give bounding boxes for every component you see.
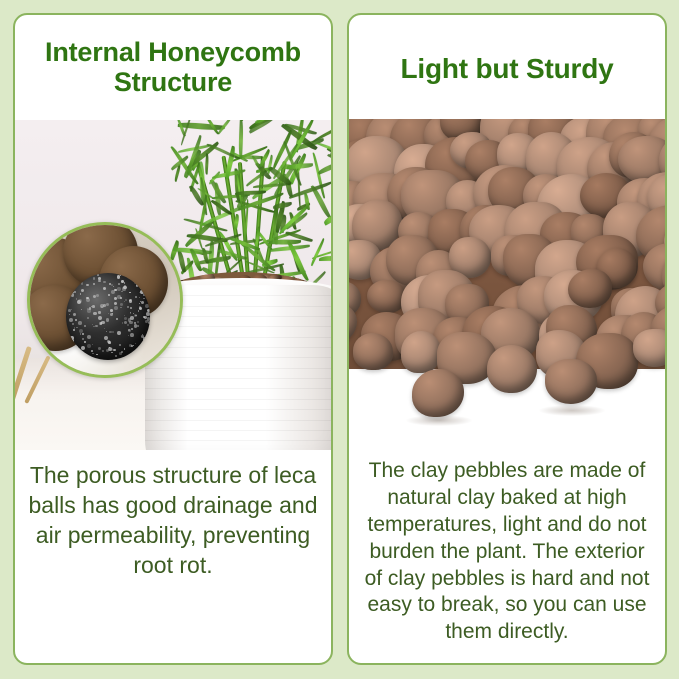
honeycomb-pore [113, 286, 114, 287]
honeycomb-pore [92, 353, 94, 355]
honeycomb-pore [122, 322, 123, 323]
honeycomb-pore [138, 276, 141, 279]
honeycomb-pore [92, 305, 95, 308]
honeycomb-pore [106, 303, 109, 306]
honeycomb-pore [104, 328, 105, 329]
honeycomb-pore [92, 344, 93, 345]
honeycomb-pore [135, 359, 139, 360]
honeycomb-pore [124, 317, 127, 320]
honeycomb-pore [110, 313, 114, 317]
honeycomb-pore [128, 335, 129, 336]
honeycomb-pore [78, 321, 82, 325]
honeycomb-pore [117, 331, 121, 335]
honeycomb-pore [129, 292, 131, 294]
honeycomb-pore [144, 316, 147, 319]
honeycomb-pore [121, 291, 122, 292]
honeycomb-pore [91, 350, 93, 352]
plant-leaf [293, 120, 320, 122]
honeycomb-pore [129, 344, 132, 347]
clay-pebble [401, 331, 441, 373]
honeycomb-pore [140, 290, 144, 294]
honeycomb-pore [80, 293, 81, 294]
honeycomb-pore [130, 307, 132, 309]
honeycomb-pore [135, 343, 136, 344]
panel-card-light-but-sturdy: Light but Sturdy The clay pebbles are ma… [347, 13, 667, 665]
honeycomb-pore [113, 349, 116, 352]
honeycomb-pore [98, 280, 101, 283]
honeycomb-pore [98, 311, 100, 313]
clay-pebble [353, 333, 394, 370]
honeycomb-pore [133, 345, 134, 346]
plant-leaf [269, 239, 301, 245]
honeycomb-pore [125, 299, 127, 301]
honeycomb-pore [93, 312, 96, 315]
infographic-root: Internal Honeycomb Structure [0, 0, 679, 679]
honeycomb-pore [127, 306, 128, 307]
honeycomb-pore [82, 333, 84, 335]
honeycomb-pore [140, 350, 142, 352]
honeycomb-pore [141, 335, 144, 338]
honeycomb-pore [75, 319, 77, 321]
honeycomb-pore [115, 355, 116, 356]
honeycomb-pore [137, 321, 139, 323]
pot-rib [145, 409, 331, 410]
leca-ball-cut-open-core [66, 273, 150, 360]
honeycomb-pore [106, 318, 109, 321]
plant-leaf [248, 120, 277, 134]
honeycomb-pore [84, 325, 86, 327]
honeycomb-pore [122, 287, 125, 290]
honeycomb-pore [80, 333, 81, 334]
honeycomb-pore [97, 274, 99, 276]
honeycomb-pore [129, 299, 132, 302]
plant-leaf [287, 164, 313, 170]
honeycomb-pore [69, 314, 71, 316]
honeycomb-pore [96, 354, 98, 356]
honeycomb-pore [96, 294, 99, 297]
honeycomb-pore [141, 301, 145, 305]
honeycomb-pore [102, 350, 104, 352]
honeycomb-pore [81, 346, 85, 350]
honeycomb-pore [71, 275, 75, 279]
honeycomb-pore [103, 287, 106, 290]
honeycomb-pore [71, 293, 74, 296]
honeycomb-pore [81, 282, 83, 284]
plant-leaf [317, 161, 331, 175]
panel-card-internal-honeycomb-structure: Internal Honeycomb Structure [13, 13, 333, 665]
honeycomb-pore [112, 331, 114, 333]
honeycomb-pore [95, 325, 98, 328]
honeycomb-pore [93, 277, 96, 280]
honeycomb-pore [117, 287, 121, 291]
honeycomb-pore [128, 357, 131, 360]
honeycomb-pore [108, 347, 112, 351]
honeycomb-pore [76, 346, 77, 347]
pot-rib [145, 430, 331, 431]
honeycomb-pore [139, 307, 142, 310]
honeycomb-pore [145, 304, 149, 308]
plant-leaf [238, 120, 244, 159]
honeycomb-pore [114, 306, 118, 310]
honeycomb-pore [69, 354, 72, 357]
pot-rib [145, 388, 331, 389]
honeycomb-pore [74, 291, 76, 293]
pot-rib [145, 378, 331, 379]
honeycomb-pore [93, 295, 96, 298]
honeycomb-pore [139, 297, 140, 298]
honeycomb-pore [70, 339, 74, 343]
honeycomb-pore [128, 329, 131, 332]
honeycomb-pore [116, 318, 118, 320]
honeycomb-pore [130, 313, 132, 315]
honeycomb-pore [86, 298, 90, 302]
honeycomb-pore [72, 323, 74, 325]
honeycomb-pore [129, 321, 132, 324]
clay-pebble [568, 269, 612, 308]
pebble-shadow [539, 405, 605, 416]
honeycomb-pore [130, 333, 134, 337]
honeycomb-pore [93, 283, 95, 285]
honeycomb-pore [146, 312, 150, 316]
pot-rib [145, 399, 331, 400]
honeycomb-pore [92, 324, 93, 325]
panel-photo-clay-pebbles [349, 119, 665, 457]
plant-leaf [204, 154, 208, 175]
honeycomb-pore [98, 347, 101, 350]
honeycomb-pore [103, 304, 106, 307]
honeycomb-pore [80, 359, 82, 360]
honeycomb-pore [135, 296, 137, 298]
panel-body-right: The clay pebbles are made of natural cla… [349, 458, 665, 646]
honeycomb-pore [110, 309, 113, 312]
honeycomb-pore [143, 294, 145, 296]
honeycomb-pore [124, 315, 125, 316]
honeycomb-pore [98, 277, 101, 280]
honeycomb-pore [87, 317, 89, 319]
pot-rib [145, 420, 331, 421]
honeycomb-pore [134, 324, 138, 328]
honeycomb-pore [120, 307, 122, 309]
honeycomb-pore [78, 299, 82, 303]
honeycomb-pore [68, 309, 71, 312]
honeycomb-pore [140, 288, 141, 289]
honeycomb-pore [99, 322, 101, 324]
honeycomb-pore [111, 290, 115, 294]
honeycomb-pore [87, 309, 91, 313]
honeycomb-pore [87, 344, 91, 348]
honeycomb-pore [129, 354, 131, 356]
honeycomb-pore [119, 344, 121, 346]
honeycomb-pore [148, 353, 150, 357]
honeycomb-pore [98, 316, 102, 320]
plant-leaf [319, 256, 331, 261]
pebble-pile [349, 119, 665, 457]
honeycomb-pore [68, 286, 70, 288]
honeycomb-pore [87, 335, 91, 339]
panel-body-left: The porous structure of leca balls has g… [15, 461, 331, 581]
honeycomb-pore [124, 282, 125, 283]
honeycomb-pore [81, 289, 84, 292]
honeycomb-pore [109, 331, 111, 333]
honeycomb-pore [101, 321, 104, 324]
clay-pebble [412, 369, 464, 417]
honeycomb-pore [136, 285, 138, 287]
honeycomb-pore [108, 294, 111, 297]
honeycomb-pore [73, 329, 75, 331]
honeycomb-pore [117, 275, 120, 278]
honeycomb-pore [145, 284, 147, 286]
honeycomb-pore [138, 346, 140, 348]
honeycomb-pore [103, 281, 106, 284]
plant-leaf [327, 152, 331, 165]
honeycomb-pore [81, 309, 82, 310]
honeycomb-pore [106, 331, 107, 332]
honeycomb-pore [138, 310, 140, 312]
honeycomb-pore [76, 327, 78, 329]
clay-pebble [545, 359, 597, 404]
honeycomb-pore [139, 303, 140, 304]
honeycomb-pore [147, 309, 150, 312]
honeycomb-pore [124, 348, 126, 350]
honeycomb-pore [69, 318, 73, 322]
clay-pebble [633, 329, 665, 367]
honeycomb-pore [143, 298, 145, 300]
honeycomb-pore [114, 302, 117, 305]
honeycomb-pore [120, 303, 123, 306]
honeycomb-pore [74, 327, 76, 329]
panel-photo-plant-in-pot [15, 120, 331, 450]
honeycomb-pore [84, 341, 86, 343]
honeycomb-pore [137, 325, 139, 327]
honeycomb-pore [111, 352, 113, 354]
panel-title-right: Light but Sturdy [349, 53, 665, 84]
honeycomb-closeup-inset [27, 222, 183, 378]
honeycomb-pore [127, 276, 128, 277]
honeycomb-pore [73, 313, 76, 316]
honeycomb-pore [127, 324, 129, 326]
honeycomb-pore [86, 284, 89, 287]
panel-title-left: Internal Honeycomb Structure [15, 37, 331, 97]
honeycomb-pore [118, 283, 120, 285]
clay-pebble [487, 345, 537, 393]
pot-rib [145, 440, 331, 441]
